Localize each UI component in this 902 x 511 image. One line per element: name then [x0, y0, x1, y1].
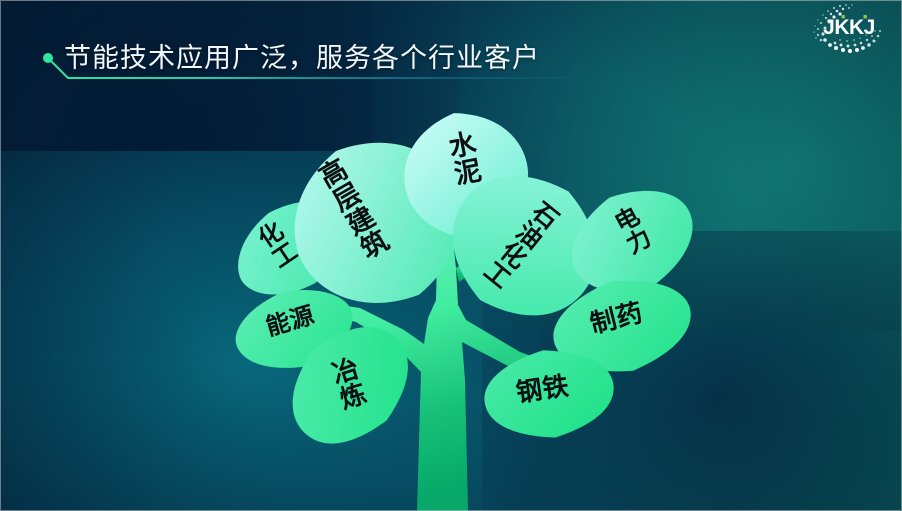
svg-text:JKKJ: JKKJ	[823, 16, 875, 39]
leaf-label-钢铁: 钢铁	[514, 372, 570, 406]
slide-canvas: 化工 高层建筑 水泥 石油化工 电力 能源 制药 冶炼 钢铁 节能技术应用广泛，…	[0, 0, 902, 511]
logo-wordmark: JKKJ	[823, 15, 875, 39]
jkkj-logo[interactable]: JKKJ	[802, 2, 894, 56]
logo-accent-dot-left	[842, 15, 845, 18]
logo-accent-dot-right	[864, 15, 867, 18]
title-block: 节能技术应用广泛，服务各个行业客户	[42, 36, 742, 94]
page-title: 节能技术应用广泛，服务各个行业客户	[64, 36, 540, 75]
title-bullet-dot	[43, 53, 53, 63]
